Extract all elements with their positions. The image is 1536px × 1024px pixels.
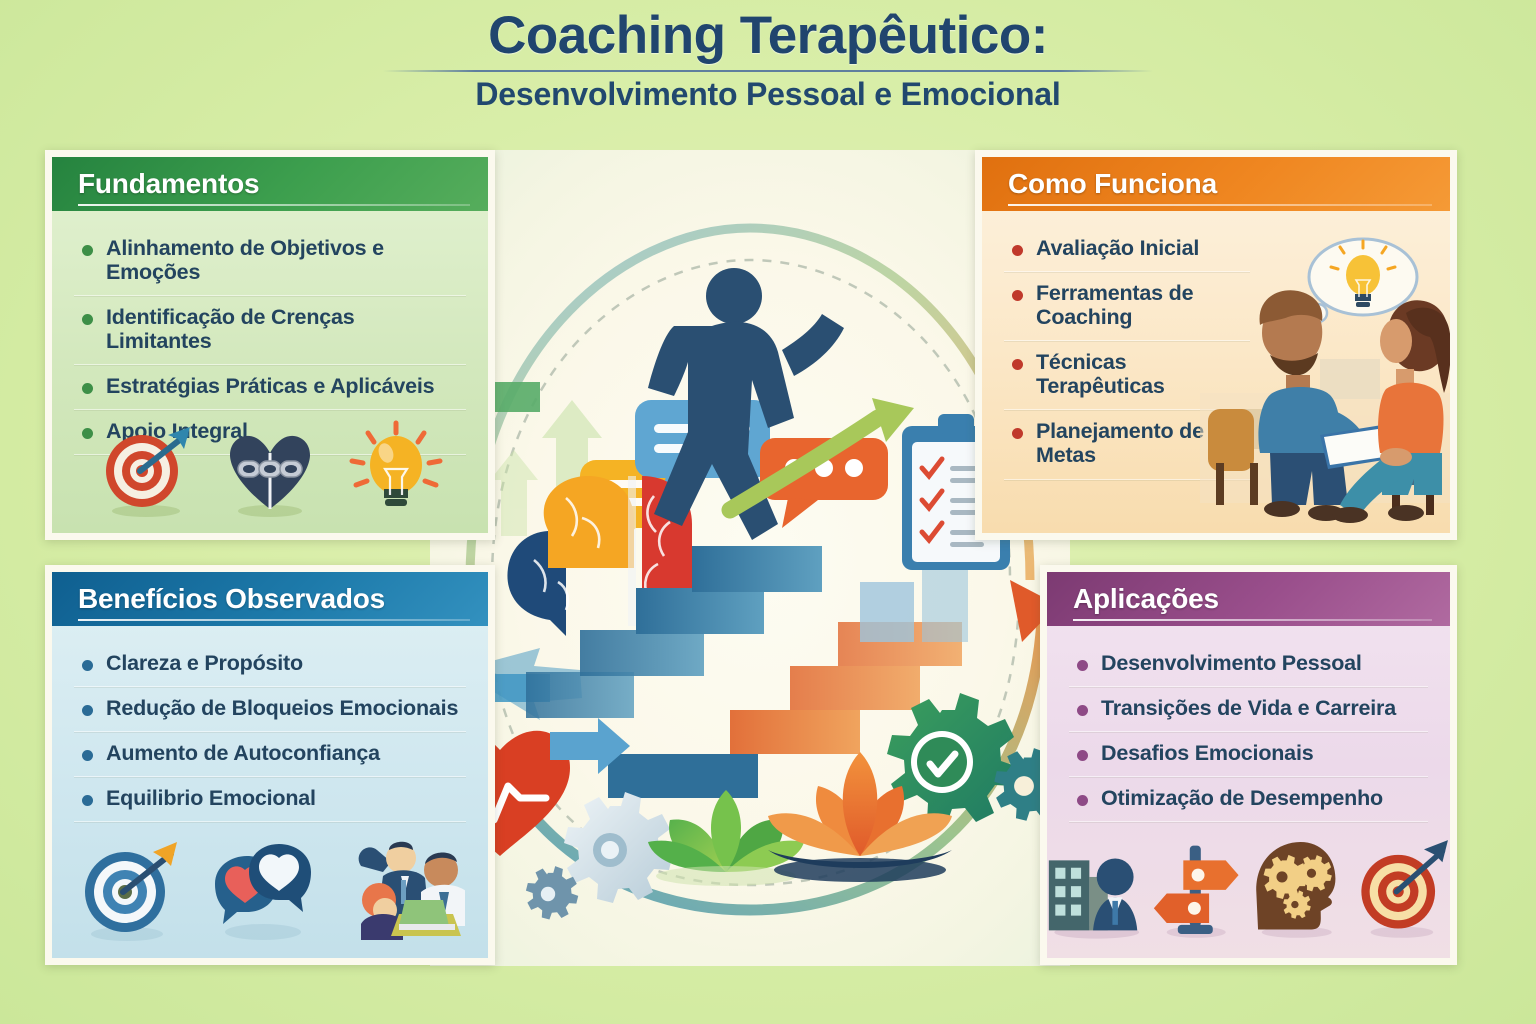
header-underline bbox=[78, 204, 470, 206]
bullet-dot bbox=[82, 314, 93, 325]
bullet-dot bbox=[1012, 428, 1023, 439]
signpost-icon bbox=[1152, 832, 1240, 944]
panel-fundamentos: Fundamentos Alinhamento de Objetivos e E… bbox=[45, 150, 495, 540]
panel-fundamentos-header: Fundamentos bbox=[52, 157, 488, 211]
target-arrow-icon bbox=[75, 836, 183, 944]
list-item-label: Transições de Vida e Carreira bbox=[1101, 696, 1396, 720]
title-block: Coaching Terapêutico: Desenvolvimento Pe… bbox=[0, 8, 1536, 113]
panel-aplicacoes-title: Aplicações bbox=[1073, 583, 1219, 615]
target-arrow-icon bbox=[94, 419, 194, 519]
list-item-label: Clareza e Propósito bbox=[106, 651, 303, 675]
list-item[interactable]: Otimização de Desempenho bbox=[1069, 777, 1428, 822]
panel-beneficios-title: Benefícios Observados bbox=[78, 583, 385, 615]
panel-beneficios-observados: Benefícios Observados Clareza e Propósit… bbox=[45, 565, 495, 965]
list-item[interactable]: Equilibrio Emocional bbox=[74, 777, 466, 822]
bullet-dot bbox=[1077, 660, 1088, 671]
list-item[interactable]: Transições de Vida e Carreira bbox=[1069, 687, 1428, 732]
list-item[interactable]: Alinhamento de Objetivos e Emoções bbox=[74, 227, 466, 296]
list-item-label: Avaliação Inicial bbox=[1036, 236, 1199, 260]
chained-heart-icon bbox=[220, 419, 320, 519]
list-item-label: Estratégias Práticas e Aplicáveis bbox=[106, 374, 434, 398]
panel-beneficios-header: Benefícios Observados bbox=[52, 572, 488, 626]
panel-fundamentos-icons bbox=[52, 401, 488, 533]
bullet-dot bbox=[1012, 359, 1023, 370]
panel-aplicacoes-list: Desenvolvimento Pessoal Transições de Vi… bbox=[1047, 626, 1450, 822]
heart-speech-bubbles-icon bbox=[209, 836, 317, 944]
header-underline bbox=[78, 619, 470, 621]
panel-beneficios-list: Clareza e Propósito Redução de Bloqueios… bbox=[52, 626, 488, 822]
title-divider bbox=[383, 70, 1153, 72]
list-item[interactable]: Redução de Bloqueios Emocionais bbox=[74, 687, 466, 732]
header-underline bbox=[1008, 204, 1432, 206]
bullet-dot bbox=[82, 705, 93, 716]
check-gear-icon bbox=[887, 693, 1018, 826]
lightbulb-icon bbox=[346, 419, 446, 519]
panel-beneficios-icons bbox=[52, 826, 488, 958]
bullet-dot bbox=[82, 795, 93, 806]
panel-como-funciona-header: Como Funciona bbox=[982, 157, 1450, 211]
bullet-dot bbox=[1012, 290, 1023, 301]
panel-como-funciona: Como Funciona Avaliação Inicial Ferramen… bbox=[975, 150, 1457, 540]
page-subtitle: Desenvolvimento Pessoal e Emocional bbox=[0, 76, 1536, 113]
head-gears-icon bbox=[1247, 832, 1348, 944]
page-title: Coaching Terapêutico: bbox=[0, 8, 1536, 64]
list-item-label: Desenvolvimento Pessoal bbox=[1101, 651, 1362, 675]
ascending-stairs bbox=[526, 546, 968, 798]
list-item[interactable]: Identificação de Crenças Limitantes bbox=[74, 296, 466, 365]
list-item[interactable]: Desafios Emocionais bbox=[1069, 732, 1428, 777]
list-item-label: Aumento de Autoconfiança bbox=[106, 741, 380, 765]
list-item[interactable]: Aumento de Autoconfiança bbox=[74, 732, 466, 777]
list-item-label: Redução de Bloqueios Emocionais bbox=[106, 696, 458, 720]
list-item[interactable]: Clareza e Propósito bbox=[74, 642, 466, 687]
panel-aplicacoes-icons bbox=[1047, 826, 1450, 958]
bullet-dot bbox=[1012, 245, 1023, 256]
panel-como-funciona-title: Como Funciona bbox=[1008, 168, 1217, 200]
bullet-dot bbox=[82, 383, 93, 394]
bullet-dot bbox=[1077, 750, 1088, 761]
coaching-session-illustration bbox=[1200, 213, 1450, 533]
target-arrow-icon bbox=[1354, 832, 1450, 944]
bullet-dot bbox=[1077, 795, 1088, 806]
bullet-dot bbox=[82, 750, 93, 761]
growth-journey-illustration bbox=[430, 150, 1070, 966]
list-item-label: Otimização de Desempenho bbox=[1101, 786, 1383, 810]
bullet-dot bbox=[82, 245, 93, 256]
list-item-label: Equilibrio Emocional bbox=[106, 786, 316, 810]
bullet-dot bbox=[1077, 705, 1088, 716]
header-underline bbox=[1073, 619, 1432, 621]
team-meeting-icon bbox=[343, 836, 465, 944]
office-building-icon bbox=[1047, 832, 1146, 944]
panel-aplicacoes: Aplicações Desenvolvimento Pessoal Trans… bbox=[1040, 565, 1457, 965]
panel-aplicacoes-header: Aplicações bbox=[1047, 572, 1450, 626]
list-item-label: Desafios Emocionais bbox=[1101, 741, 1313, 765]
list-item[interactable]: Desenvolvimento Pessoal bbox=[1069, 642, 1428, 687]
bullet-dot bbox=[82, 660, 93, 671]
list-item-label: Alinhamento de Objetivos e Emoções bbox=[106, 236, 462, 284]
list-item-label: Identificação de Crenças Limitantes bbox=[106, 305, 462, 353]
panel-fundamentos-title: Fundamentos bbox=[78, 168, 259, 200]
